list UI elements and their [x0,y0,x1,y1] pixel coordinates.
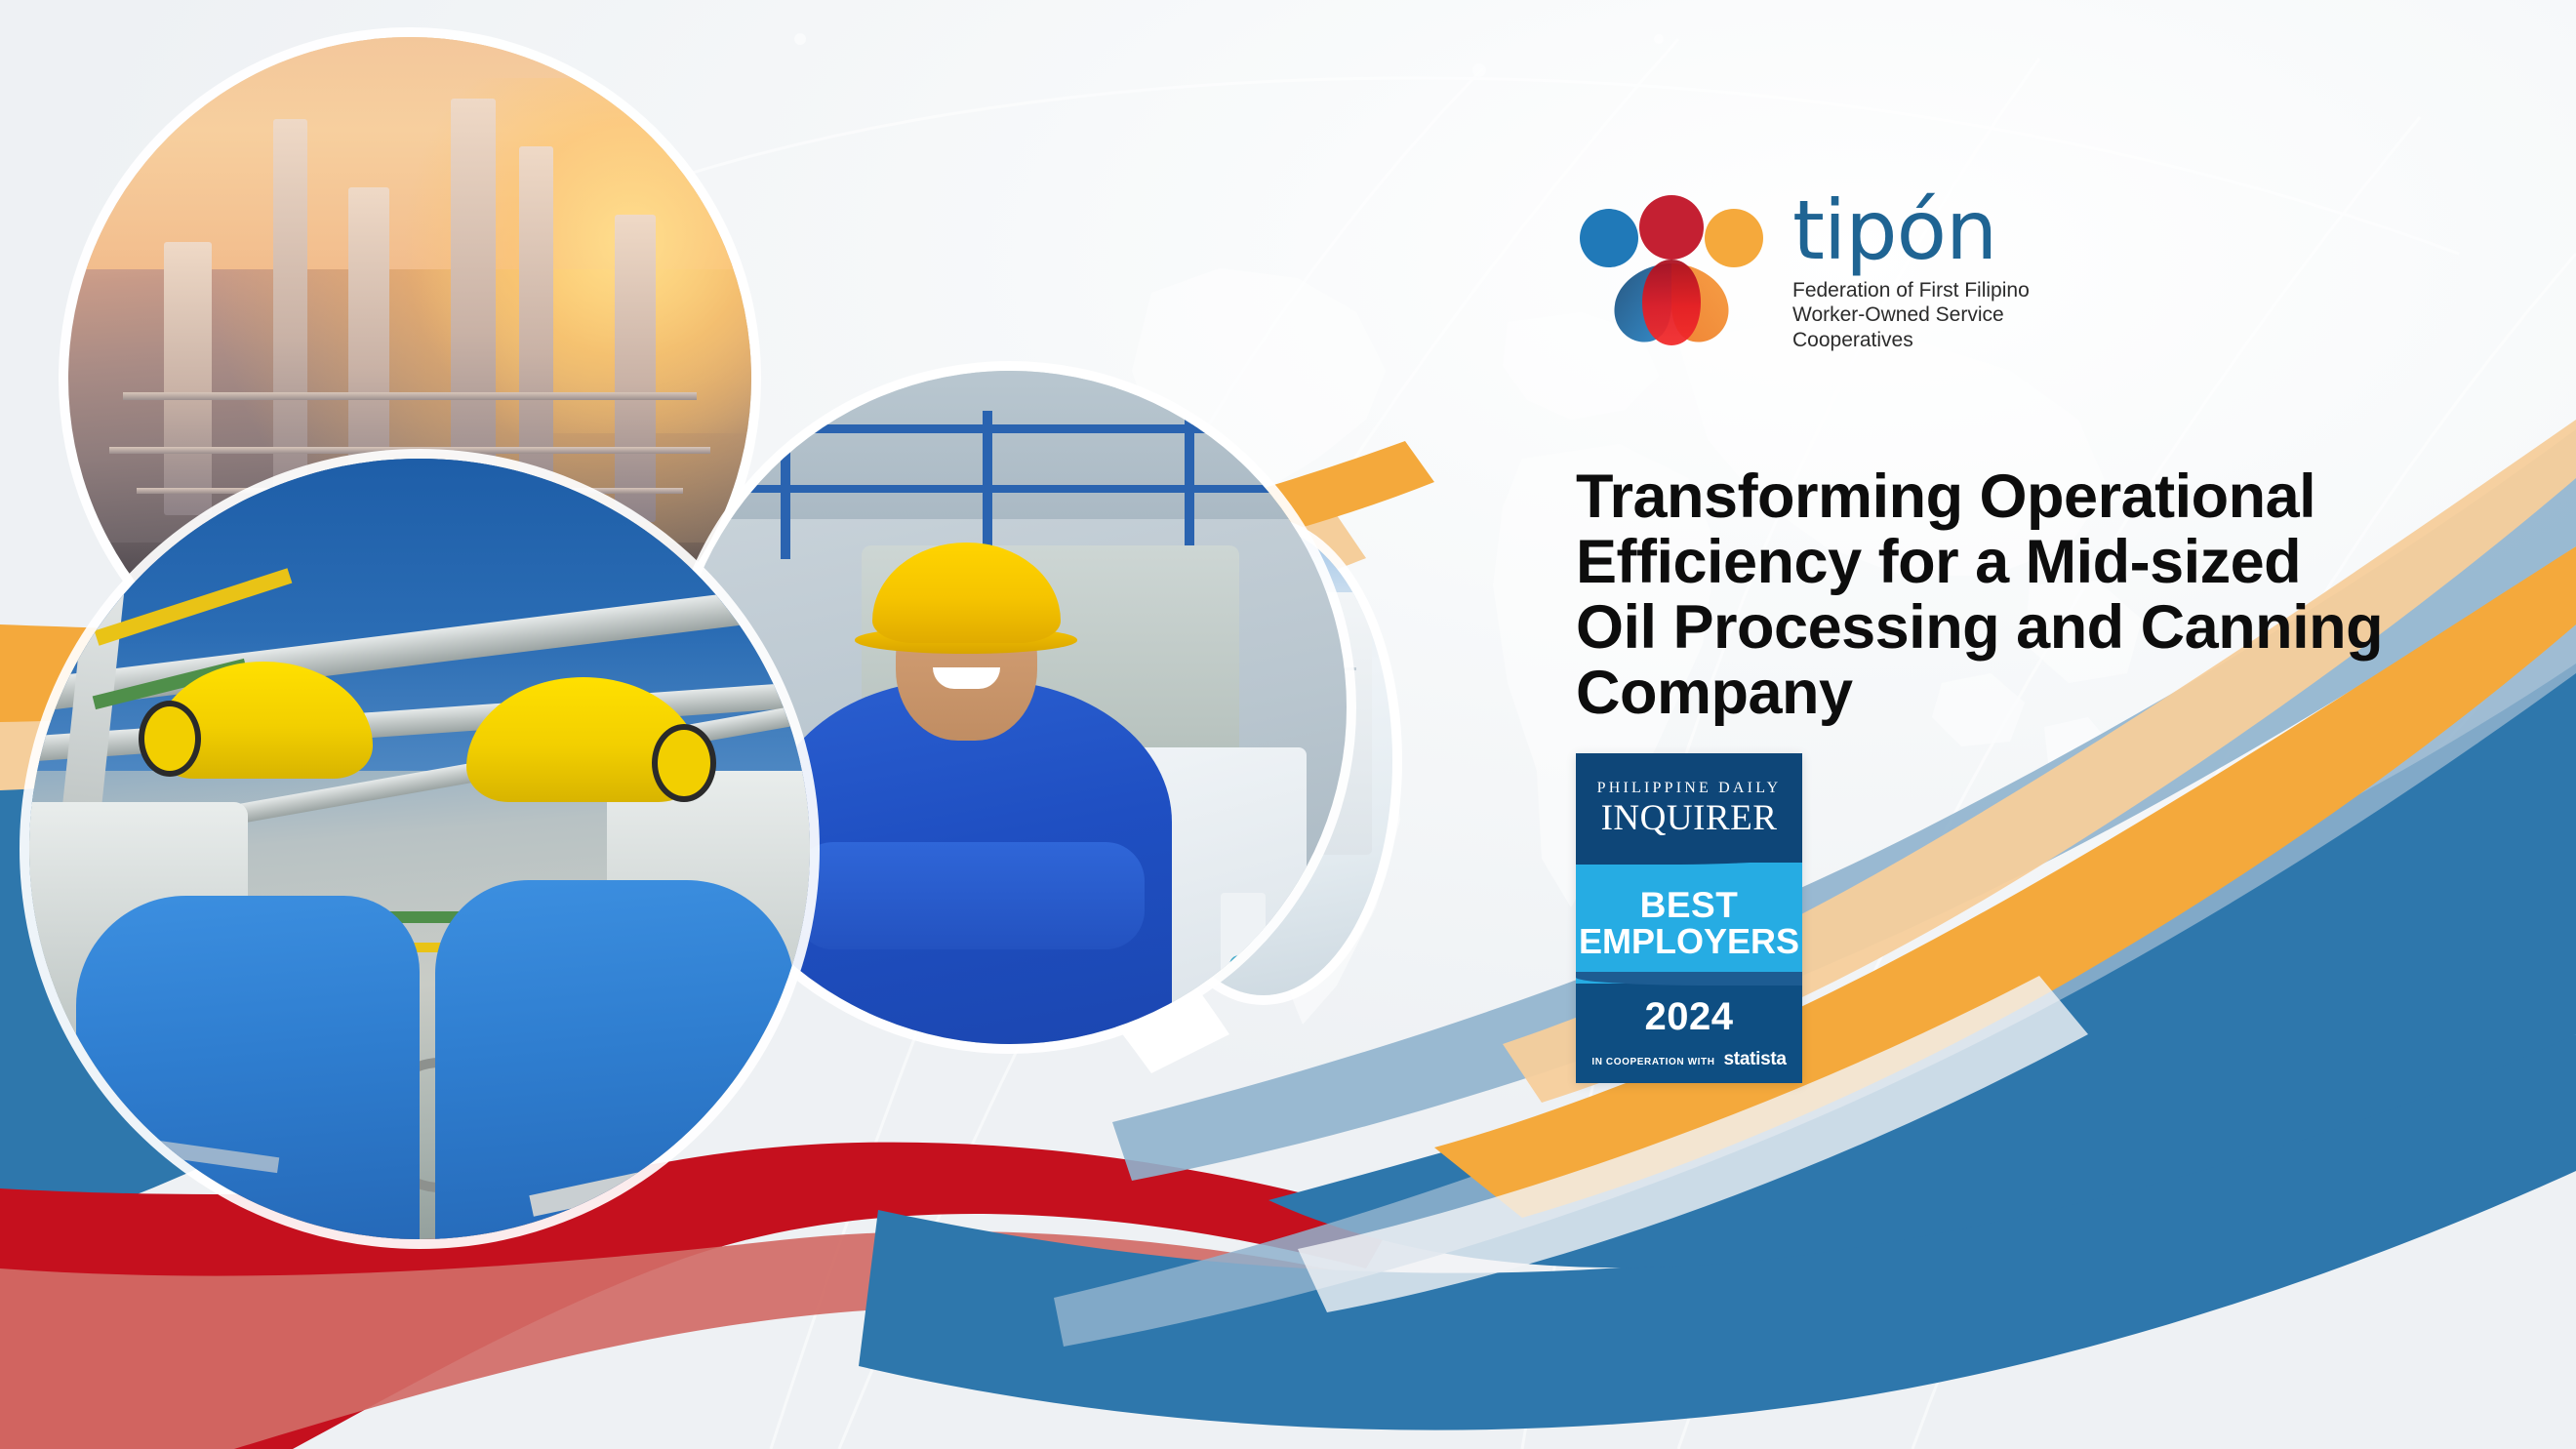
tipon-logo-text: tipón Federation of First Filipino Worke… [1792,195,2030,353]
content-column: tipón Federation of First Filipino Worke… [1576,0,2552,1449]
badge-publisher-line2: INQUIRER [1601,800,1778,836]
tipon-tagline: Federation of First Filipino Worker-Owne… [1792,278,2030,353]
badge-cooperation-label: IN COOPERATION WITH [1591,1057,1714,1067]
badge-publisher: PHILIPPINE DAILY INQUIRER [1576,753,1802,863]
badge-award-title: BEST EMPLOYERS [1576,863,1802,984]
badge-cooperation: IN COOPERATION WITH statista [1591,1049,1786,1070]
poster-canvas: tipón Federation of First Filipino Worke… [0,0,2576,1449]
badge-year: 2024 [1645,997,1734,1036]
photo-two-workers-inspecting [29,459,810,1239]
page-title: Transforming Operational Efficiency for … [1576,464,2493,725]
badge-award-line2: EMPLOYERS [1579,923,1799,960]
badge-publisher-line1: PHILIPPINE DAILY [1597,780,1782,797]
tipon-logo[interactable]: tipón Federation of First Filipino Worke… [1576,195,2030,353]
badge-partner-statista: statista [1724,1049,1787,1070]
tagline-line-2: Worker-Owned Service [1792,302,2030,328]
award-badge-best-employers[interactable]: PHILIPPINE DAILY INQUIRER BEST EMPLOYERS… [1576,753,1802,1083]
headline-line-2: Efficiency for a Mid-sized [1576,528,2301,596]
headline-line-3: Oil Processing and Canning [1576,593,2383,662]
tagline-line-1: Federation of First Filipino [1792,278,2030,303]
headline-line-4: Company [1576,659,1853,727]
headline-line-1: Transforming Operational [1576,463,2315,531]
tipon-logo-mark [1576,195,1767,351]
tipon-wordmark: tipón [1792,197,2030,264]
badge-award-line1: BEST [1640,887,1739,923]
tagline-line-3: Cooperatives [1792,328,2030,353]
badge-footer: 2024 IN COOPERATION WITH statista [1576,984,1802,1083]
three-people-icon [1576,195,1767,351]
